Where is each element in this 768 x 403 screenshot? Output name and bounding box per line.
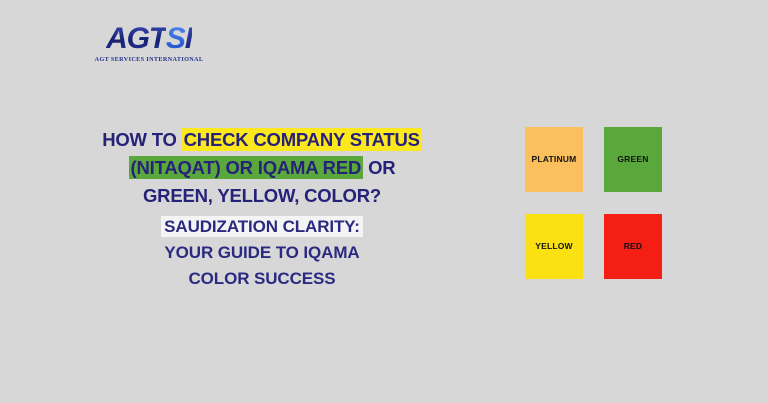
iqama-color-swatch-grid: PLATINUM GREEN YELLOW RED [525, 127, 662, 279]
subheadline-line-1: SAUDIZATION CLARITY: [76, 214, 448, 240]
swatch-yellow: YELLOW [525, 214, 583, 279]
swatch-platinum: PLATINUM [525, 127, 583, 192]
logo-tagline: AGT SERVICES INTERNATIONAL [93, 56, 205, 63]
swatch-label-platinum: PLATINUM [532, 155, 577, 164]
headline-line-3: GREEN, YELLOW, COLOR? [76, 182, 448, 210]
logo-text-s: S [166, 22, 185, 55]
headline-line-1-plain: HOW TO [102, 129, 181, 150]
logo-text-agt: AGT [106, 22, 166, 55]
headline-line-2-plain: OR [363, 157, 395, 178]
swatch-label-red: RED [624, 242, 643, 251]
subheadline-line-3: COLOR SUCCESS [76, 266, 448, 292]
page-title: HOW TO CHECK COMPANY STATUS (NITAQAT) OR… [76, 126, 448, 210]
subheadline-line-2: YOUR GUIDE TO IQAMA [76, 240, 448, 266]
headline-highlight-yellow: CHECK COMPANY STATUS [182, 128, 422, 151]
swatch-red: RED [604, 214, 662, 279]
headline-line-2: (NITAQAT) OR IQAMA RED OR [76, 154, 448, 182]
logo-text-i: I [185, 22, 192, 55]
banner-graphic: AGTSI AGT SERVICES INTERNATIONAL HOW TO … [0, 0, 768, 403]
logo: AGTSI AGT SERVICES INTERNATIONAL [93, 24, 205, 63]
page-subtitle: SAUDIZATION CLARITY: YOUR GUIDE TO IQAMA… [76, 214, 448, 292]
headline-line-1: HOW TO CHECK COMPANY STATUS [76, 126, 448, 154]
swatch-label-yellow: YELLOW [535, 242, 573, 251]
swatch-green: GREEN [604, 127, 662, 192]
headline-highlight-green: (NITAQAT) OR IQAMA RED [129, 156, 364, 179]
logo-wordmark: AGTSI [93, 24, 205, 54]
subheadline-highlight-white: SAUDIZATION CLARITY: [161, 216, 363, 237]
swatch-label-green: GREEN [617, 155, 648, 164]
